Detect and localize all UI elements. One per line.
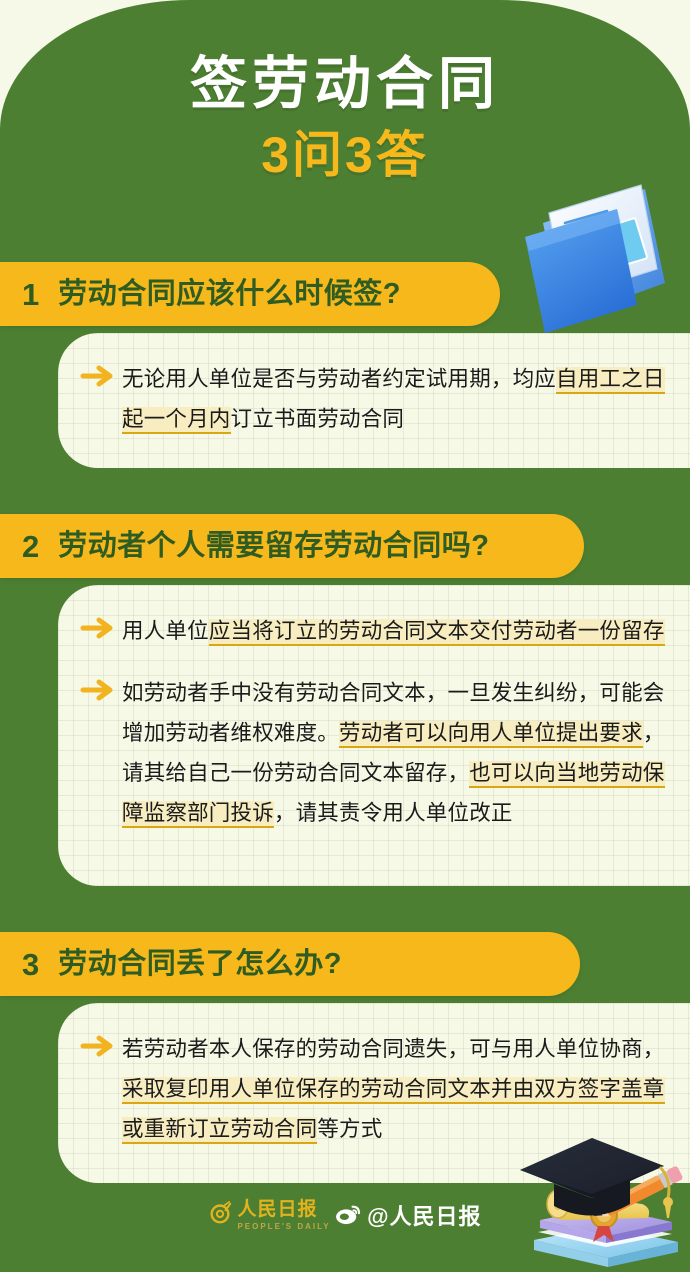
arrow-right-icon: [80, 616, 114, 645]
title-block: 签劳动合同 3问3答: [0, 52, 690, 183]
bullet-text: 如劳动者手中没有劳动合同文本，一旦发生纠纷，可能会增加劳动者维权难度。劳动者可以…: [122, 673, 672, 833]
plain-text: 若劳动者本人保存的劳动合同遗失，可与用人单位协商，: [122, 1037, 665, 1061]
bullet-text: 无论用人单位是否与劳动者约定试用期，均应自用工之日起一个月内订立书面劳动合同: [122, 359, 672, 439]
brand-name-en: PEOPLE'S DAILY: [237, 1223, 330, 1231]
arrow-right-icon: [80, 1034, 114, 1063]
bullet-item: 如劳动者手中没有劳动合同文本，一旦发生纠纷，可能会增加劳动者维权难度。劳动者可以…: [80, 673, 672, 833]
question-text-3: 劳动合同丢了怎么办?: [58, 950, 342, 979]
brand-name-cn: 人民日报: [237, 1199, 317, 1220]
weibo-handle: @人民日报: [367, 1206, 481, 1228]
question-number-1: 1: [22, 279, 39, 310]
question-number-2: 2: [22, 531, 39, 562]
infographic-page: 签劳动合同 3问3答: [0, 0, 690, 1272]
answer-card-1: 无论用人单位是否与劳动者约定试用期，均应自用工之日起一个月内订立书面劳动合同: [58, 333, 690, 468]
peoples-daily-logo: 人民日报 PEOPLE'S DAILY: [208, 1200, 330, 1231]
weibo-watermark: @人民日报: [335, 1203, 481, 1230]
question-text-1: 劳动合同应该什么时候签?: [58, 280, 401, 309]
bullet-item: 用人单位应当将订立的劳动合同文本交付劳动者一份留存: [80, 611, 672, 651]
highlighted-text: 应当将订立的劳动合同文本交付劳动者一份留存: [209, 619, 665, 646]
page-title: 签劳动合同: [0, 52, 690, 118]
plain-text: 等方式: [317, 1117, 382, 1141]
arrow-right-icon: [80, 678, 114, 707]
folder-document-illustration: [505, 165, 680, 340]
question-number-3: 3: [22, 949, 39, 980]
plain-text: 订立书面劳动合同: [231, 407, 405, 431]
question-banner-1: 1 劳动合同应该什么时候签?: [0, 262, 500, 326]
plain-text: 用人单位: [122, 619, 209, 643]
footer-branding: 人民日报 PEOPLE'S DAILY @人民日报: [0, 1198, 690, 1231]
question-banner-3: 3 劳动合同丢了怎么办?: [0, 932, 580, 996]
at-symbol-icon: [208, 1201, 232, 1230]
arrow-right-icon: [80, 364, 114, 393]
weibo-icon: [335, 1203, 361, 1230]
graduation-cap-books-illustration: [492, 1122, 690, 1272]
question-text-2: 劳动者个人需要留存劳动合同吗?: [58, 532, 489, 561]
bullet-item: 无论用人单位是否与劳动者约定试用期，均应自用工之日起一个月内订立书面劳动合同: [80, 359, 672, 439]
answer-card-2: 用人单位应当将订立的劳动合同文本交付劳动者一份留存 如劳动者手中没有劳动合同文本…: [58, 585, 690, 886]
plain-text: 无论用人单位是否与劳动者约定试用期，均应: [122, 367, 556, 391]
question-banner-2: 2 劳动者个人需要留存劳动合同吗?: [0, 514, 584, 578]
highlighted-text: 劳动者可以向用人单位提出要求: [339, 721, 643, 748]
bullet-text: 用人单位应当将订立的劳动合同文本交付劳动者一份留存: [122, 611, 672, 651]
plain-text: ，请其责令用人单位改正: [274, 801, 513, 825]
